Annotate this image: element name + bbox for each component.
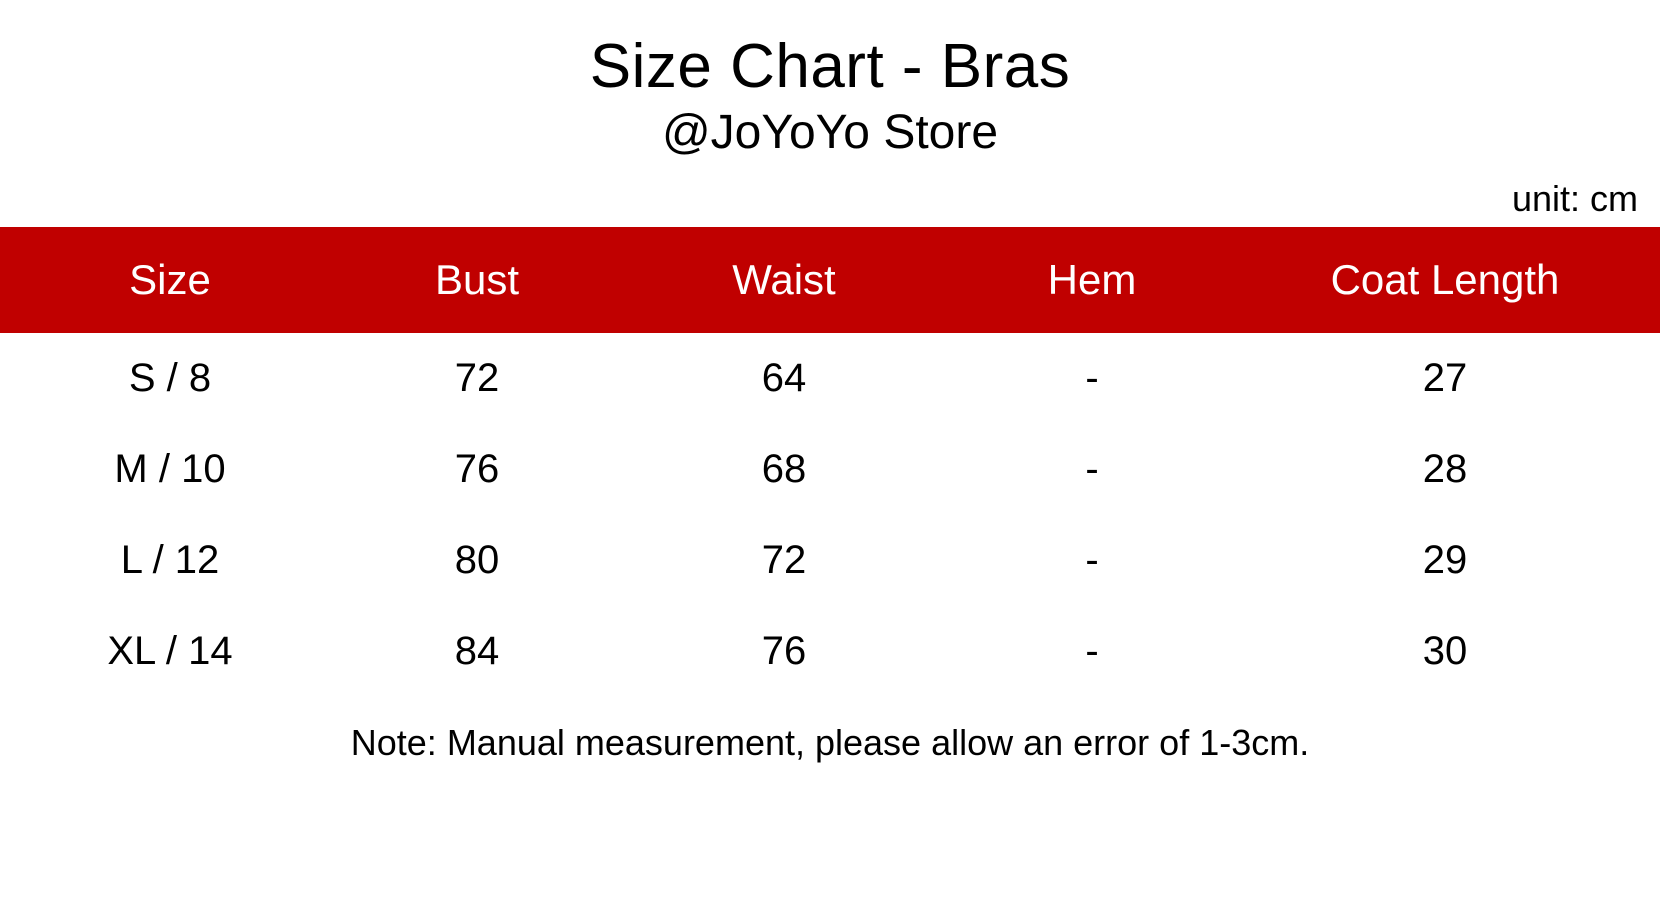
column-header-size: Size xyxy=(0,227,340,333)
table-row: M / 10 76 68 - 28 xyxy=(0,424,1660,515)
size-chart-page: Size Chart - Bras @JoYoYo Store unit: cm… xyxy=(0,0,1660,898)
measurement-note: Note: Manual measurement, please allow a… xyxy=(0,725,1660,761)
table-body: S / 8 72 64 - 27 M / 10 76 68 - 28 L / 1… xyxy=(0,333,1660,697)
cell-coat-length: 28 xyxy=(1230,424,1660,515)
table-header-row: Size Bust Waist Hem Coat Length xyxy=(0,227,1660,333)
title-block: Size Chart - Bras @JoYoYo Store xyxy=(0,0,1660,159)
cell-hem: - xyxy=(954,515,1230,606)
cell-bust: 80 xyxy=(340,515,614,606)
column-header-coat-length: Coat Length xyxy=(1230,227,1660,333)
table-header: Size Bust Waist Hem Coat Length xyxy=(0,227,1660,333)
column-header-waist: Waist xyxy=(614,227,954,333)
cell-coat-length: 29 xyxy=(1230,515,1660,606)
cell-bust: 72 xyxy=(340,333,614,424)
cell-coat-length: 30 xyxy=(1230,606,1660,697)
table-row: L / 12 80 72 - 29 xyxy=(0,515,1660,606)
column-header-hem: Hem xyxy=(954,227,1230,333)
cell-size: XL / 14 xyxy=(0,606,340,697)
cell-waist: 72 xyxy=(614,515,954,606)
cell-size: M / 10 xyxy=(0,424,340,515)
cell-waist: 68 xyxy=(614,424,954,515)
table-row: S / 8 72 64 - 27 xyxy=(0,333,1660,424)
cell-hem: - xyxy=(954,333,1230,424)
cell-waist: 64 xyxy=(614,333,954,424)
table-row: XL / 14 84 76 - 30 xyxy=(0,606,1660,697)
cell-bust: 76 xyxy=(340,424,614,515)
cell-size: S / 8 xyxy=(0,333,340,424)
cell-hem: - xyxy=(954,424,1230,515)
size-chart-table: Size Bust Waist Hem Coat Length S / 8 72… xyxy=(0,227,1660,697)
page-title: Size Chart - Bras xyxy=(0,34,1660,99)
unit-row: unit: cm xyxy=(0,181,1660,217)
cell-size: L / 12 xyxy=(0,515,340,606)
unit-label: unit: cm xyxy=(1512,178,1638,219)
cell-bust: 84 xyxy=(340,606,614,697)
cell-coat-length: 27 xyxy=(1230,333,1660,424)
cell-hem: - xyxy=(954,606,1230,697)
column-header-bust: Bust xyxy=(340,227,614,333)
store-subtitle: @JoYoYo Store xyxy=(0,107,1660,159)
cell-waist: 76 xyxy=(614,606,954,697)
